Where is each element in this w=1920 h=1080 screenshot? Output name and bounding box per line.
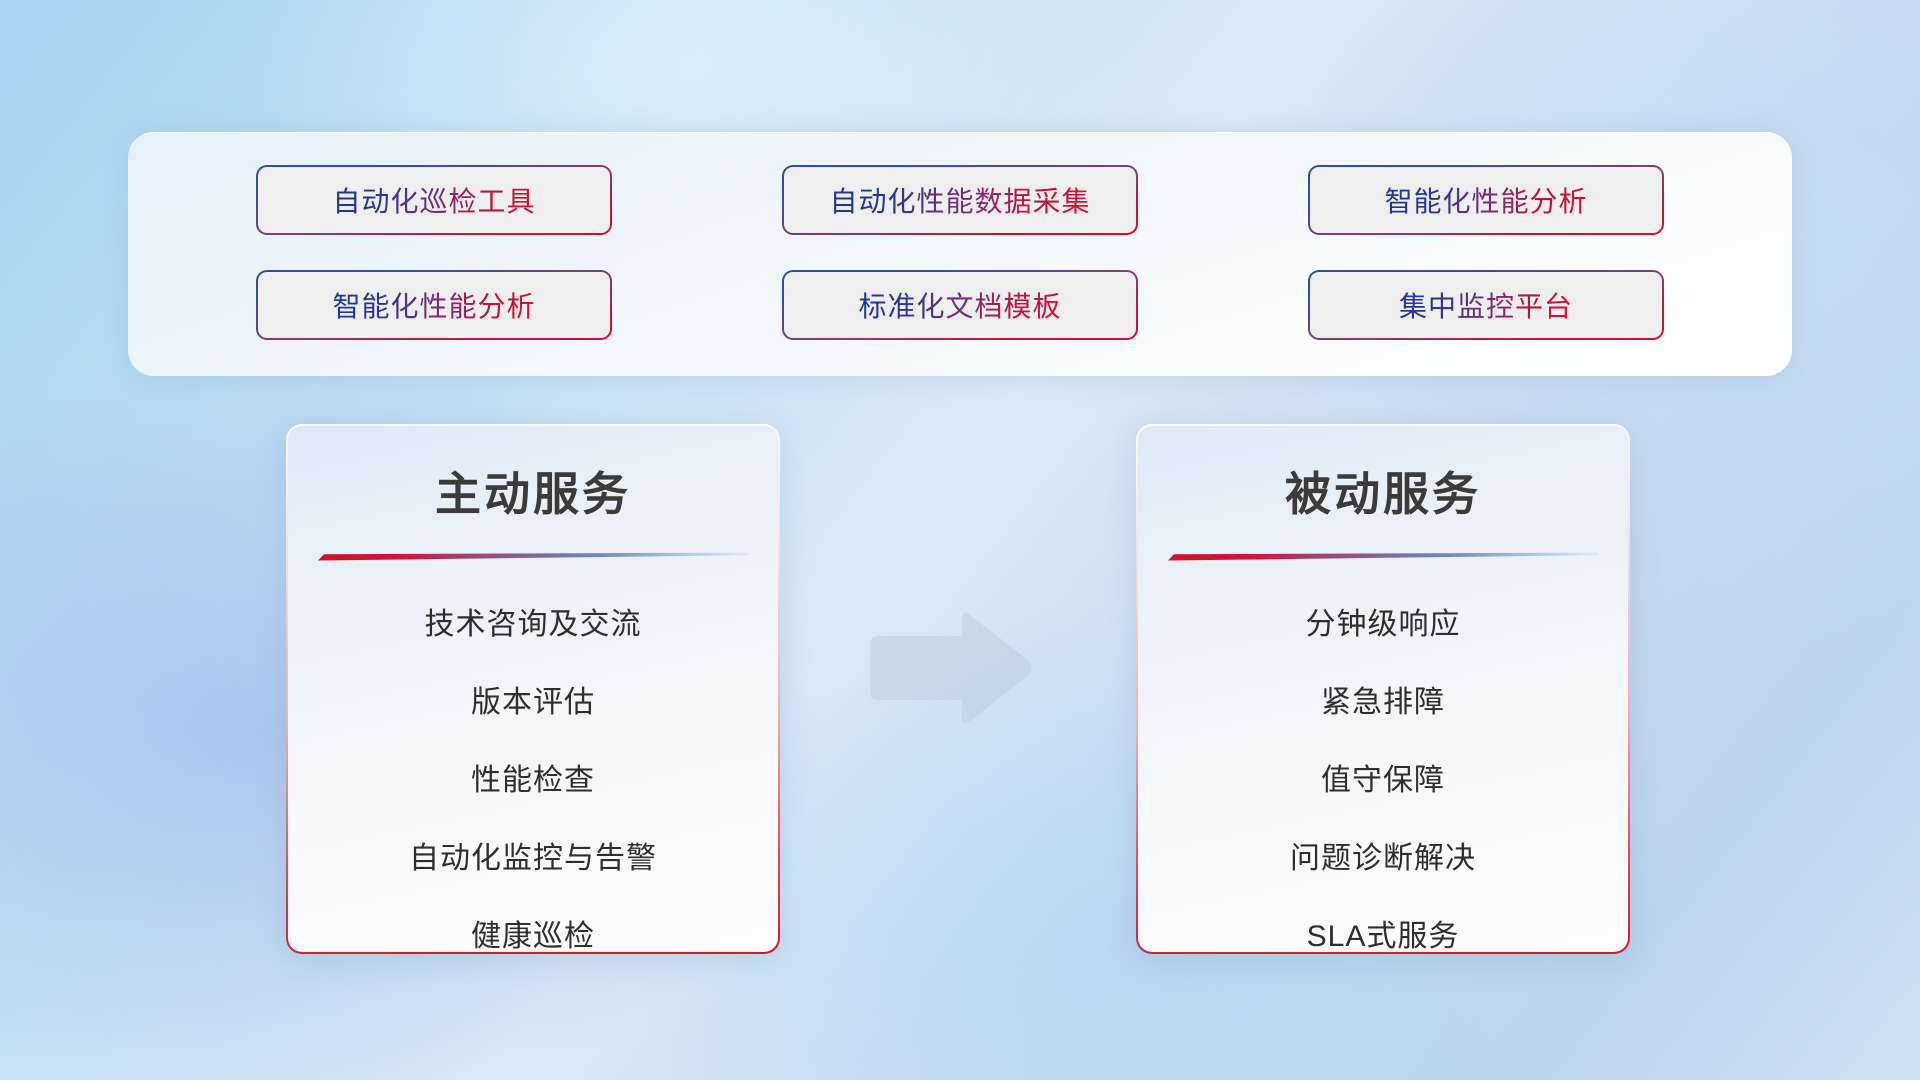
- capability-pill-surface: 集中监控平台: [1310, 272, 1662, 338]
- arrow-right-icon: [866, 608, 1034, 728]
- service-card-passive[interactable]: 被动服务: [1136, 424, 1630, 954]
- capability-pill-label: 自动化性能数据采集: [829, 180, 1090, 220]
- service-card-surface: 被动服务: [1138, 426, 1628, 952]
- capability-pill-label: 标准化文档模板: [858, 285, 1061, 325]
- capability-pill-label: 智能化性能分析: [1384, 180, 1587, 220]
- capability-pill[interactable]: 标准化文档模板: [782, 270, 1138, 340]
- capability-pill[interactable]: 集中监控平台: [1308, 270, 1664, 340]
- service-list-item: 值守保障: [1321, 742, 1445, 820]
- service-card-title: 被动服务: [1285, 458, 1481, 524]
- service-list-item: 紧急排障: [1321, 664, 1445, 742]
- capability-pill-surface: 智能化性能分析: [1310, 167, 1662, 233]
- capability-pill-surface: 标准化文档模板: [784, 272, 1136, 338]
- title-divider: [1168, 550, 1598, 562]
- capability-pill-label: 自动化巡检工具: [332, 180, 535, 220]
- service-list-item: 分钟级响应: [1306, 586, 1461, 664]
- capability-pill[interactable]: 自动化巡检工具: [256, 165, 612, 235]
- capability-pill-grid: 自动化巡检工具 自动化性能数据采集 智能化性能分析 智能化性能分析: [128, 132, 1792, 376]
- service-list-item: 技术咨询及交流: [425, 586, 642, 664]
- service-item-list: 分钟级响应 紧急排障 值守保障 问题诊断解决 SLA式服务: [1138, 586, 1628, 952]
- service-list-item: 版本评估: [471, 664, 595, 742]
- service-card-surface: 主动服务: [288, 426, 778, 952]
- slide-canvas: 自动化巡检工具 自动化性能数据采集 智能化性能分析 智能化性能分析: [0, 0, 1920, 1080]
- capability-panel: 自动化巡检工具 自动化性能数据采集 智能化性能分析 智能化性能分析: [128, 132, 1792, 376]
- service-list-item: 健康巡检: [471, 898, 595, 952]
- capability-pill-surface: 智能化性能分析: [258, 272, 610, 338]
- capability-pill[interactable]: 自动化性能数据采集: [782, 165, 1138, 235]
- service-card-active[interactable]: 主动服务: [286, 424, 780, 954]
- service-list-item: 性能检查: [471, 742, 595, 820]
- service-list-item: 问题诊断解决: [1290, 820, 1476, 898]
- service-card-title: 主动服务: [435, 458, 631, 524]
- capability-pill[interactable]: 智能化性能分析: [256, 270, 612, 340]
- capability-pill-surface: 自动化巡检工具: [258, 167, 610, 233]
- title-divider: [318, 550, 748, 562]
- capability-pill-label: 集中监控平台: [1399, 285, 1573, 325]
- capability-pill-label: 智能化性能分析: [332, 285, 535, 325]
- service-item-list: 技术咨询及交流 版本评估 性能检查 自动化监控与告警 健康巡检: [288, 586, 778, 952]
- service-list-item: SLA式服务: [1307, 898, 1460, 952]
- capability-pill[interactable]: 智能化性能分析: [1308, 165, 1664, 235]
- capability-pill-surface: 自动化性能数据采集: [784, 167, 1136, 233]
- service-list-item: 自动化监控与告警: [409, 820, 657, 898]
